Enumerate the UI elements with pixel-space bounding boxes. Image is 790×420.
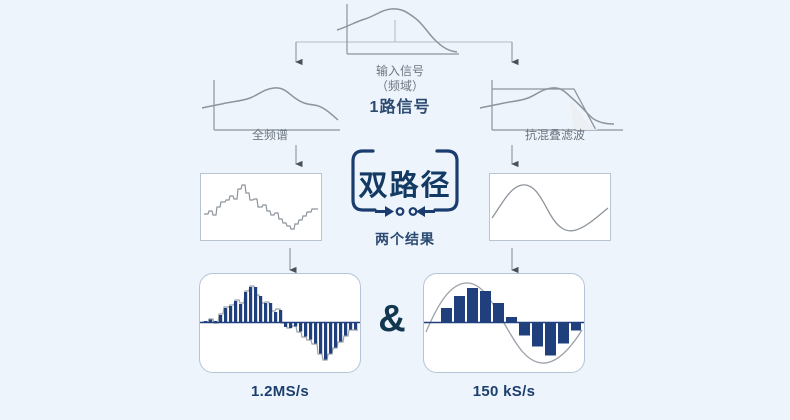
badge-title: 双路径 bbox=[345, 162, 465, 204]
chart-wideband-waveform bbox=[201, 174, 321, 240]
panel-wideband-waveform bbox=[200, 173, 322, 241]
diagram-canvas: 输入信号 （频域） 1路信号 全频谱 抗混叠滤波 bbox=[0, 0, 790, 420]
spectrum-curve bbox=[202, 88, 338, 120]
spectrum-curve bbox=[337, 9, 457, 52]
badge-caption: 两个结果 bbox=[345, 232, 465, 247]
chart-input-spectrum bbox=[335, 2, 465, 62]
chart-result-right-bars bbox=[424, 274, 584, 372]
bar-series bbox=[441, 288, 581, 356]
panel-result-right bbox=[423, 273, 585, 373]
ampersand-symbol: & bbox=[372, 300, 412, 338]
input-signal-subtitle: （频域） bbox=[376, 79, 424, 93]
sine-curve bbox=[492, 185, 608, 231]
input-signal-title: 输入信号 bbox=[376, 64, 424, 78]
panel-filtered-sine-waveform bbox=[489, 173, 611, 241]
chart-result-left-bars bbox=[200, 274, 360, 372]
panel-result-left bbox=[199, 273, 361, 373]
branch-label-left: 全频谱 bbox=[205, 128, 335, 143]
result-right-rate-label: 150 kS/s bbox=[423, 384, 585, 399]
arrow-in-right-icon bbox=[416, 206, 435, 217]
path-dot-2 bbox=[410, 208, 417, 215]
chart-filtered-sine-waveform bbox=[490, 174, 610, 240]
path-dot-1 bbox=[397, 208, 404, 215]
center-badge: 双路径 bbox=[345, 148, 465, 226]
result-left-rate-label: 1.2MS/s bbox=[199, 384, 361, 399]
branch-label-right: 抗混叠滤波 bbox=[485, 128, 625, 143]
waveform-curve bbox=[204, 185, 318, 229]
arrow-in-left-icon bbox=[375, 206, 394, 217]
spectrum-curve bbox=[480, 88, 614, 124]
